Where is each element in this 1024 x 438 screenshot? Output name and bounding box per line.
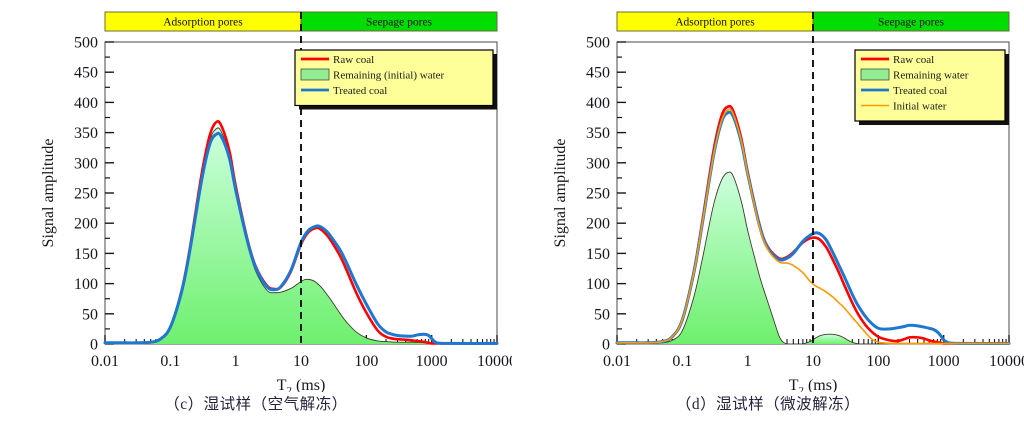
x-tick-label: 1000 — [416, 353, 448, 370]
y-tick-label: 50 — [594, 306, 610, 323]
x-tick-label: 100 — [354, 353, 378, 370]
x-tick-label: 10000 — [477, 353, 512, 370]
y-tick-label: 300 — [586, 155, 610, 172]
panel-c: Adsorption poresSeepage pores05010015020… — [0, 0, 512, 438]
figure-container: Adsorption poresSeepage pores05010015020… — [0, 0, 1024, 438]
legend-label: Remaining (initial) water — [333, 70, 445, 82]
legend-label: Raw coal — [333, 54, 374, 66]
x-tick-label: 1 — [744, 353, 752, 370]
x-tick-label: 0.1 — [672, 353, 692, 370]
panel-c-caption: （c）湿试样（空气解冻） — [0, 392, 512, 414]
band-label-adsorption: Adsorption pores — [675, 17, 755, 29]
x-axis-title-unit: (ms) — [292, 377, 325, 392]
y-tick-label: 100 — [74, 276, 98, 293]
y-tick-label: 450 — [74, 65, 98, 82]
y-axis-title: Signal amplitude — [40, 139, 57, 248]
legend-label: Initial water — [893, 101, 947, 113]
band-label-seepage: Seepage pores — [878, 17, 945, 29]
x-tick-label: 0.1 — [160, 353, 180, 370]
y-tick-label: 250 — [74, 186, 98, 203]
panel-d: Adsorption poresSeepage pores05010015020… — [512, 0, 1024, 438]
y-tick-label: 0 — [90, 337, 98, 354]
x-axis-title-main: T — [277, 377, 287, 392]
y-tick-label: 100 — [586, 276, 610, 293]
x-tick-label: 0.01 — [603, 353, 631, 370]
y-tick-label: 450 — [586, 65, 610, 82]
x-axis-title: T2 (ms) — [789, 377, 838, 392]
band-label-seepage: Seepage pores — [366, 17, 433, 29]
y-tick-label: 200 — [586, 216, 610, 233]
y-tick-label: 200 — [74, 216, 98, 233]
legend-label: Treated coal — [333, 85, 387, 97]
y-tick-label: 500 — [74, 35, 98, 52]
legend-swatch-patch — [861, 69, 889, 80]
y-tick-label: 400 — [74, 95, 98, 112]
legend-swatch-patch — [301, 69, 329, 80]
y-axis-title: Signal amplitude — [552, 139, 569, 248]
x-tick-label: 10000 — [989, 353, 1024, 370]
band-label-adsorption: Adsorption pores — [163, 17, 243, 29]
x-axis-title: T2 (ms) — [277, 377, 326, 392]
panel-d-plot: Adsorption poresSeepage pores05010015020… — [512, 0, 1024, 392]
y-tick-label: 300 — [74, 155, 98, 172]
y-tick-label: 250 — [586, 186, 610, 203]
x-tick-label: 10 — [293, 353, 309, 370]
x-tick-label: 1 — [232, 353, 240, 370]
y-tick-label: 350 — [74, 125, 98, 142]
panel-d-caption: （d）湿试样（微波解冻） — [512, 392, 1024, 414]
y-tick-label: 400 — [586, 95, 610, 112]
y-tick-label: 350 — [586, 125, 610, 142]
x-tick-label: 100 — [866, 353, 890, 370]
legend-label: Treated coal — [893, 85, 947, 97]
y-tick-label: 150 — [586, 246, 610, 263]
y-tick-label: 0 — [602, 337, 610, 354]
y-tick-label: 50 — [82, 306, 98, 323]
x-tick-label: 1000 — [928, 353, 960, 370]
panel-c-plot: Adsorption poresSeepage pores05010015020… — [0, 0, 512, 392]
legend-label: Remaining water — [893, 70, 969, 82]
x-axis-title-main: T — [789, 377, 799, 392]
x-tick-label: 10 — [805, 353, 821, 370]
x-axis-title-unit: (ms) — [804, 377, 837, 392]
y-tick-label: 150 — [74, 246, 98, 263]
y-tick-label: 500 — [586, 35, 610, 52]
x-tick-label: 0.01 — [91, 353, 119, 370]
legend-label: Raw coal — [893, 54, 934, 66]
